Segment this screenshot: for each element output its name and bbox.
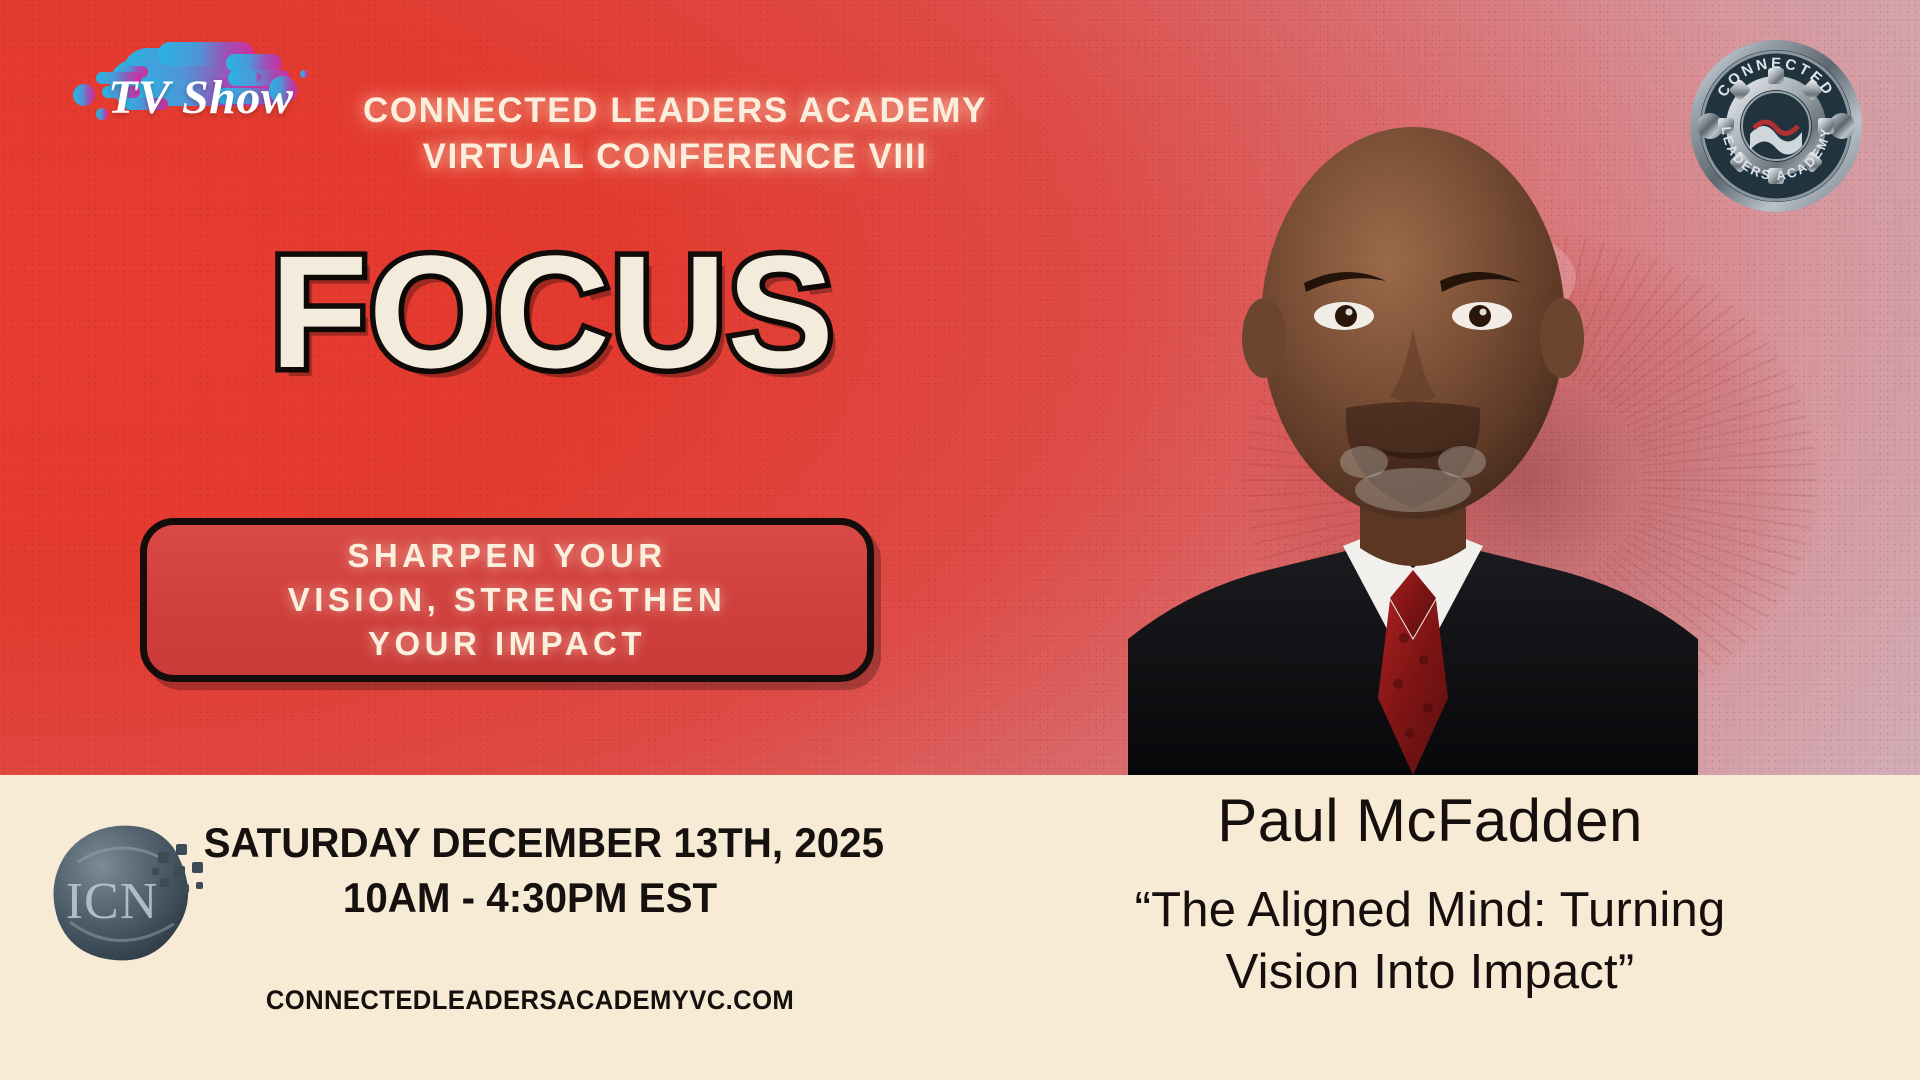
tagline-box: SHARPEN YOUR VISION, STRENGTHEN YOUR IMP… — [140, 518, 874, 682]
tagline-line-1: SHARPEN YOUR — [288, 534, 727, 578]
speaker-talk-title: “The Aligned Mind: Turning Vision Into I… — [990, 880, 1870, 1003]
header-line-1: CONNECTED LEADERS ACADEMY — [355, 88, 995, 134]
connected-leaders-academy-seal-logo: CONNECTED LEADERS ACADEMY — [1688, 38, 1864, 214]
tagline-line-2: VISION, STRENGTHEN — [288, 578, 727, 622]
promo-poster: TV Show CONNECTED LEADERS ACADEMY VIRTUA… — [0, 0, 1920, 1080]
page-title: FOCUS — [270, 228, 835, 396]
icn-wordmark: ICN — [66, 873, 159, 930]
tagline-line-3: YOUR IMPACT — [288, 622, 727, 666]
conference-header: CONNECTED LEADERS ACADEMY VIRTUAL CONFER… — [355, 88, 995, 179]
speaker-photo — [1128, 78, 1698, 775]
speaker-name: Paul McFadden — [1020, 786, 1840, 855]
tagline-text: SHARPEN YOUR VISION, STRENGTHEN YOUR IMP… — [288, 534, 727, 666]
event-website[interactable]: CONNECTEDLEADERSACADEMYVC.COM — [207, 985, 853, 1016]
event-date-block: SATURDAY DECEMBER 13TH, 2025 10AM - 4:30… — [204, 815, 857, 926]
tv-show-label: TV Show — [108, 70, 293, 125]
event-time: 10AM - 4:30PM EST — [204, 870, 857, 925]
tv-show-badge: TV Show — [40, 30, 350, 140]
talk-title-line-1: “The Aligned Mind: Turning — [990, 880, 1870, 942]
talk-title-line-2: Vision Into Impact” — [990, 942, 1870, 1004]
event-date: SATURDAY DECEMBER 13TH, 2025 — [204, 815, 857, 870]
icn-logo: ICN — [48, 818, 213, 978]
header-line-2: VIRTUAL CONFERENCE VIII — [355, 134, 995, 180]
